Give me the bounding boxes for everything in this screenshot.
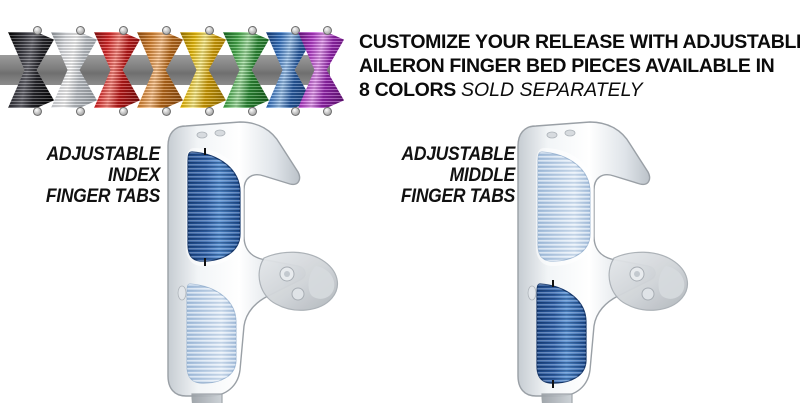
headline-line-3: 8 COLORS SOLD SEPARATELY [359, 78, 800, 102]
release-aid-middle-highlighted [498, 108, 698, 403]
jaw-head-mechanism [259, 252, 337, 310]
headline-line-1: CUSTOMIZE YOUR RELEASE WITH ADJUSTABLE [359, 30, 800, 54]
headline-colors-count: 8 COLORS [359, 79, 456, 101]
label-adjustable-index-finger-tabs: ADJUSTABLE INDEX FINGER TABS [13, 144, 160, 207]
release-aid-index-highlighted [148, 108, 348, 403]
headline-sold-separately: SOLD SEPARATELY [461, 79, 643, 101]
label-index-line-2: FINGER TABS [13, 186, 160, 207]
color-swatch-strip [0, 22, 352, 118]
jaw-head-mechanism [609, 252, 687, 310]
swatch-pin-top [76, 26, 85, 35]
label-index-line-1: ADJUSTABLE INDEX [13, 144, 160, 186]
swatch-pin-top [33, 26, 42, 35]
trigger-hook [542, 394, 606, 403]
swatch-pin-top [323, 26, 332, 35]
label-middle-line-1: ADJUSTABLE MIDDLE [345, 144, 515, 186]
swatch-pin-bottom [33, 107, 42, 116]
trigger-hook [192, 394, 256, 403]
swatch-pin-top [119, 26, 128, 35]
label-adjustable-middle-finger-tabs: ADJUSTABLE MIDDLE FINGER TABS [345, 144, 515, 207]
product-banner: CUSTOMIZE YOUR RELEASE WITH ADJUSTABLE A… [0, 0, 800, 420]
swatch-pin-bottom [76, 107, 85, 116]
swatch-ribbing [298, 32, 344, 108]
color-swatch-purple[interactable] [292, 22, 350, 118]
headline-line-2: AILERON FINGER BED PIECES AVAILABLE IN [359, 54, 800, 78]
swatch-pin-top [248, 26, 257, 35]
swatch-pin-bottom [119, 107, 128, 116]
headline-block: CUSTOMIZE YOUR RELEASE WITH ADJUSTABLE A… [359, 30, 800, 102]
label-middle-line-2: FINGER TABS [345, 186, 515, 207]
swatch-pin-top [205, 26, 214, 35]
swatch-pin-top [162, 26, 171, 35]
